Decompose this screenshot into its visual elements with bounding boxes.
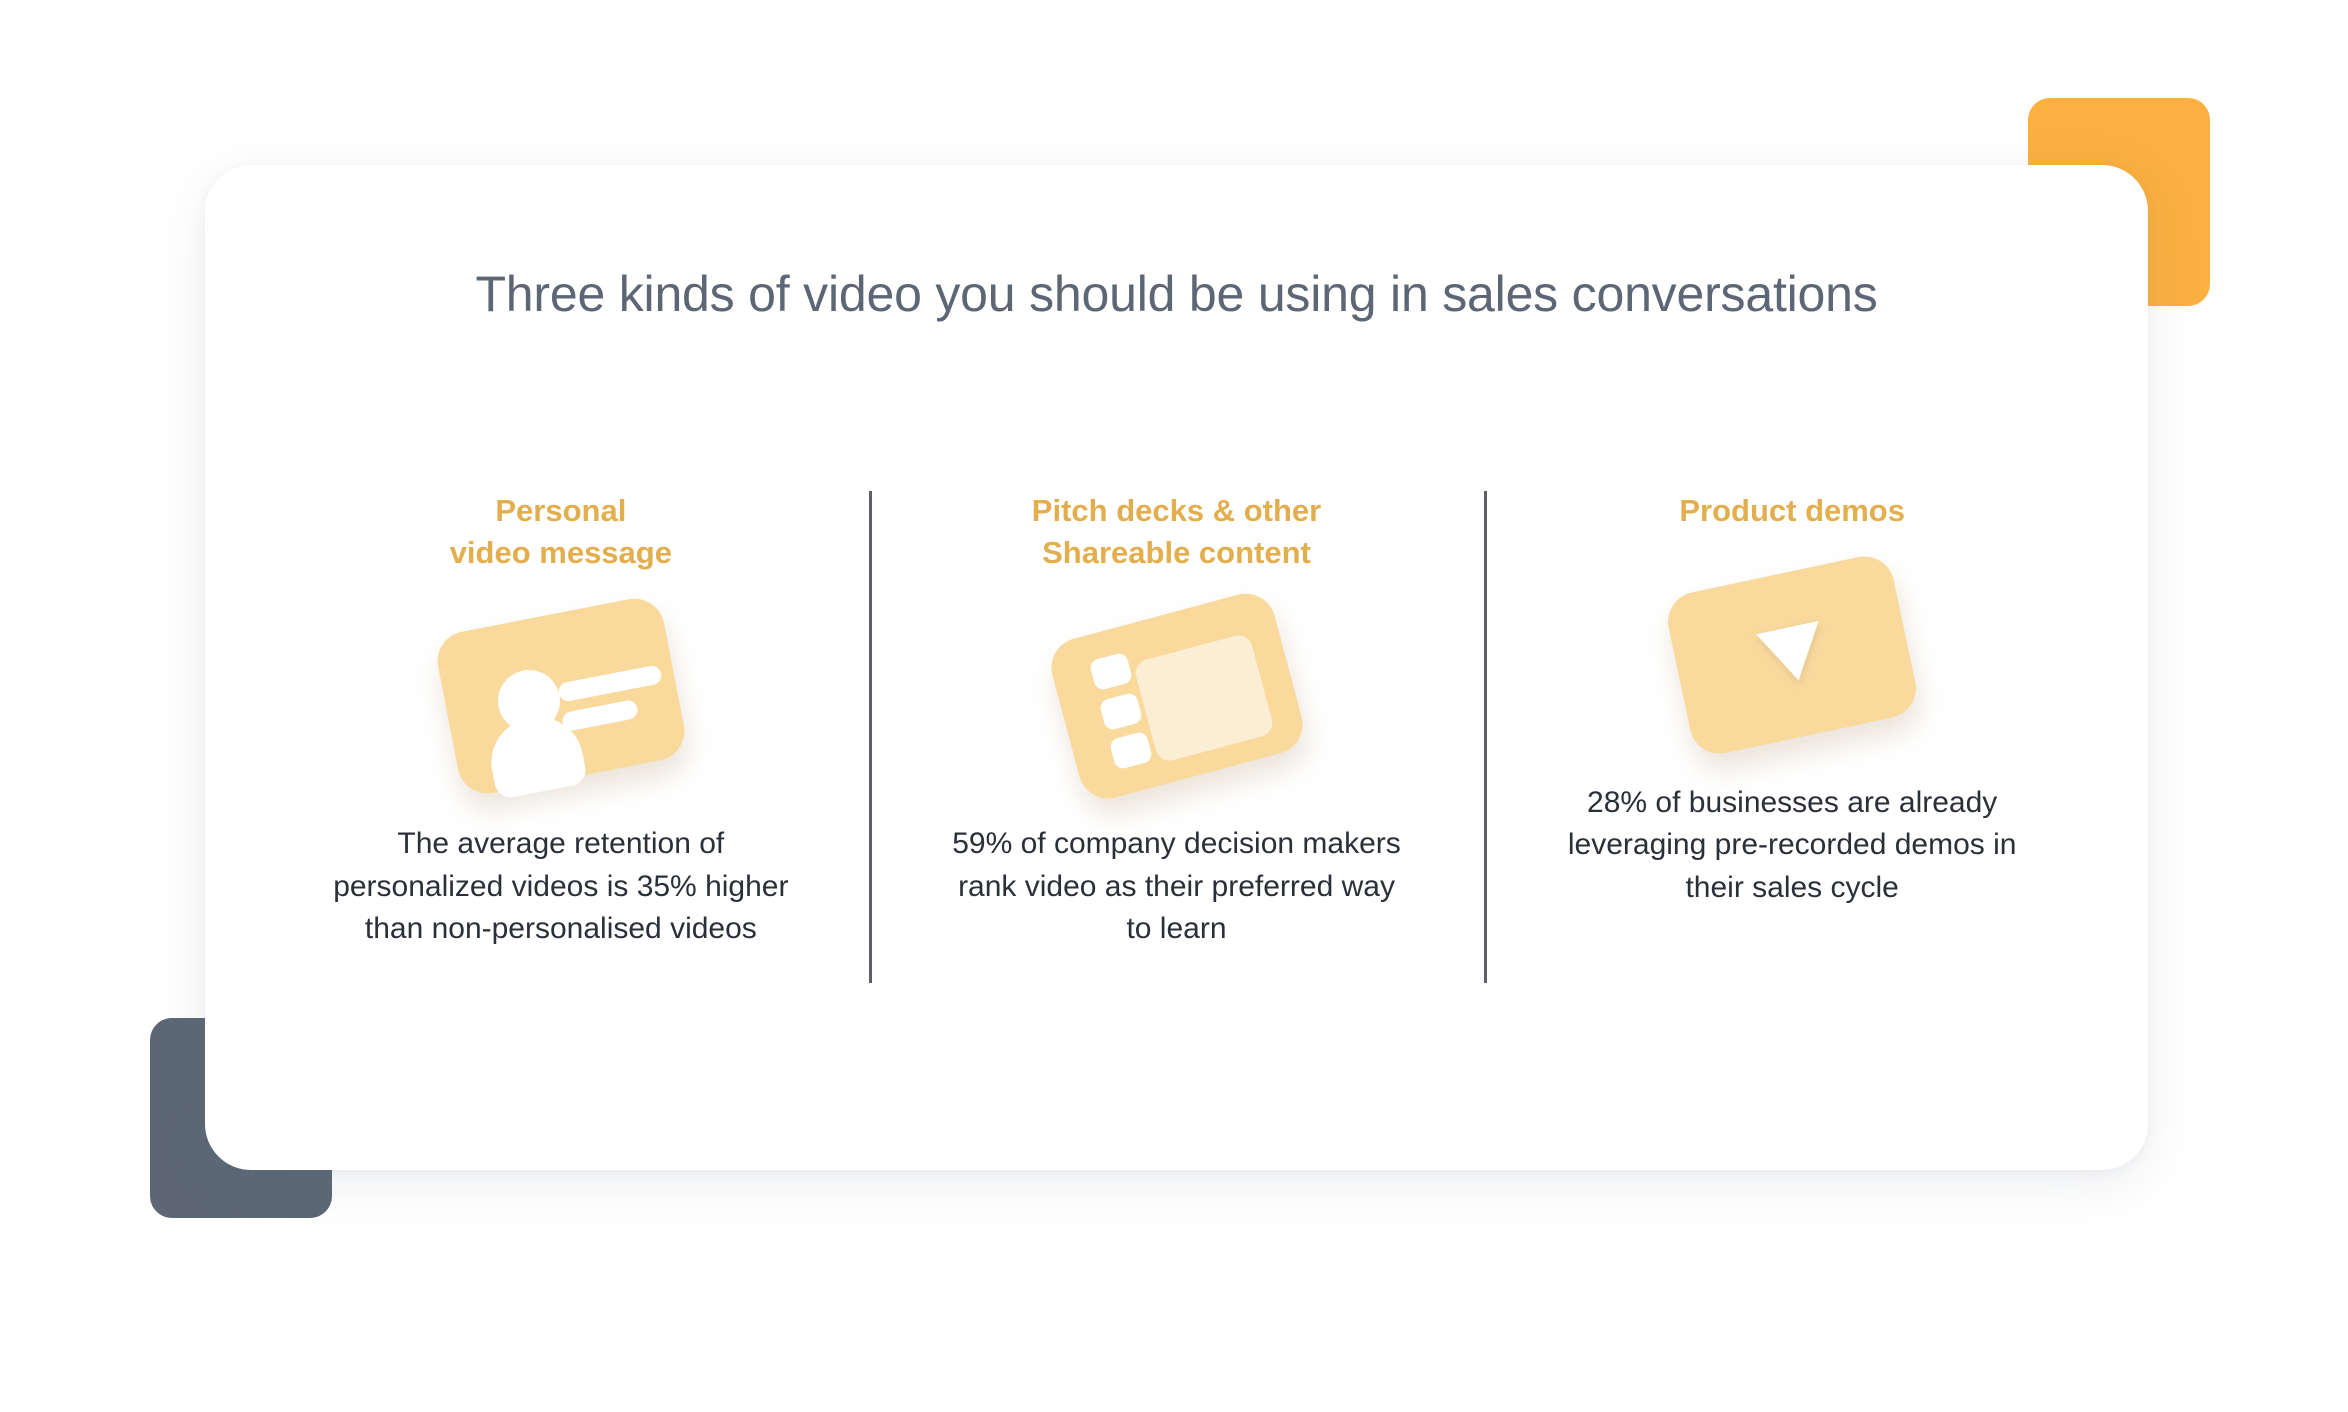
column-product-demos: Product demos 28% of businesses are alre…: [1484, 490, 2100, 909]
column-heading: Personal video message: [450, 490, 672, 573]
play-button-icon: [1677, 573, 1907, 737]
icon-container: [271, 591, 851, 801]
column-heading: Pitch decks & other Shareable content: [1032, 490, 1321, 573]
column-personal-video-message: Personal video message The average reten…: [253, 490, 869, 951]
icon-container: [1502, 550, 2082, 760]
id-card-person-icon: [446, 614, 676, 778]
page-title: Three kinds of video you should be using…: [205, 265, 2148, 323]
column-body-text: 59% of company decision makers rank vide…: [942, 823, 1412, 951]
column-heading: Product demos: [1679, 490, 1905, 532]
column-body-text: The average retention of personalized vi…: [326, 823, 796, 951]
content-card: Three kinds of video you should be using…: [205, 165, 2148, 1170]
column-body-text: 28% of businesses are already leveraging…: [1557, 782, 2027, 910]
slide-deck-icon: [1062, 614, 1292, 778]
slide-canvas: Three kinds of video you should be using…: [0, 0, 2348, 1412]
columns-container: Personal video message The average reten…: [253, 490, 2100, 951]
icon-container: [887, 591, 1467, 801]
column-pitch-decks: Pitch decks & other Shareable content 59…: [869, 490, 1485, 951]
